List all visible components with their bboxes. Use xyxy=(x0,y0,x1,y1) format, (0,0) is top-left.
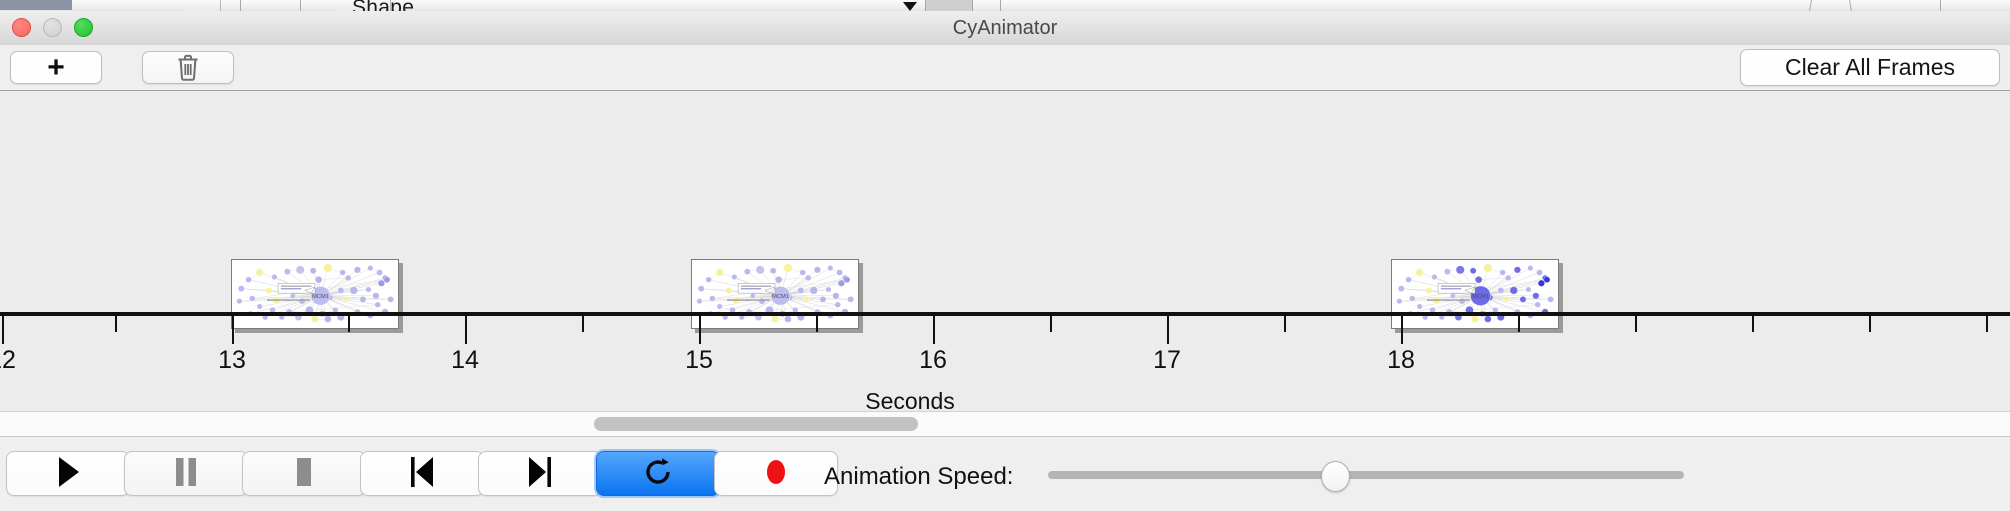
svg-text:MCM1: MCM1 xyxy=(312,294,329,300)
animation-speed-slider-thumb[interactable] xyxy=(1321,461,1350,492)
record-icon xyxy=(762,455,790,493)
tick-label-18: 18 xyxy=(1387,346,1415,375)
timeline-axis xyxy=(0,312,2010,316)
stop-icon xyxy=(289,455,319,493)
tick-label-15: 15 xyxy=(685,346,713,375)
tick-label-13: 13 xyxy=(218,346,246,375)
tick-minor-9 xyxy=(1869,316,1871,332)
tick-label-12: 12 xyxy=(0,346,16,375)
svg-text:MCM1: MCM1 xyxy=(1472,294,1489,300)
skip-back-icon xyxy=(406,455,438,493)
tick-minor-3 xyxy=(816,316,818,332)
tick-major-17 xyxy=(1167,316,1169,344)
add-frame-button[interactable]: + xyxy=(10,51,102,84)
clear-all-frames-label: Clear All Frames xyxy=(1785,54,1955,81)
timeline-frame-thumbnail[interactable]: MCM1 xyxy=(1391,259,1559,329)
skip-to-end-button[interactable] xyxy=(478,451,602,496)
tick-minor-7 xyxy=(1635,316,1637,332)
timeline-frame-thumbnail[interactable]: MCM1 xyxy=(231,259,399,329)
tick-minor-2 xyxy=(582,316,584,332)
tick-major-16 xyxy=(933,316,935,344)
tick-major-15 xyxy=(699,316,701,344)
tick-major-12 xyxy=(2,316,4,344)
animation-speed-label: Animation Speed: xyxy=(824,463,1013,491)
tick-minor-6 xyxy=(1518,316,1520,332)
transport-bar: Animation Speed: xyxy=(0,436,2010,511)
cyanimator-window: Shape CyAnimator + Clear All xyxy=(0,0,2010,510)
skip-to-start-button[interactable] xyxy=(360,451,484,496)
timeline-panel[interactable]: MCM1 MCM1 MCM1 12131415161718 Seconds xyxy=(0,91,2010,411)
tick-label-16: 16 xyxy=(919,346,947,375)
timeline-scrollbar-thumb[interactable] xyxy=(594,417,918,431)
tick-minor-8 xyxy=(1752,316,1754,332)
window-titlebar: CyAnimator xyxy=(0,11,2010,46)
tick-label-17: 17 xyxy=(1153,346,1181,375)
background-caret-icon xyxy=(903,2,917,11)
loop-button[interactable] xyxy=(596,451,720,496)
skip-forward-icon xyxy=(524,455,556,493)
pause-icon xyxy=(171,455,201,493)
tick-minor-5 xyxy=(1284,316,1286,332)
tick-major-14 xyxy=(465,316,467,344)
frame-toolbar: + Clear All Frames xyxy=(0,45,2010,91)
animation-speed-slider[interactable] xyxy=(1048,471,1684,479)
clear-all-frames-button[interactable]: Clear All Frames xyxy=(1740,49,2000,86)
window-title: CyAnimator xyxy=(0,11,2010,45)
stop-button xyxy=(242,451,366,496)
tick-major-18 xyxy=(1401,316,1403,344)
tick-label-14: 14 xyxy=(451,346,479,375)
trash-icon xyxy=(176,54,200,81)
loop-icon xyxy=(642,455,674,493)
pause-button xyxy=(124,451,248,496)
timeline-scrollbar[interactable] xyxy=(0,411,2010,437)
background-window-titlebar-fragment xyxy=(0,0,72,10)
tick-minor-10 xyxy=(1986,316,1988,332)
tick-minor-1 xyxy=(348,316,350,332)
play-icon xyxy=(53,455,83,493)
svg-text:MCM1: MCM1 xyxy=(772,294,789,300)
tick-minor-0 xyxy=(115,316,117,332)
timeline-frame-thumbnail[interactable]: MCM1 xyxy=(691,259,859,329)
tick-major-13 xyxy=(232,316,234,344)
plus-icon: + xyxy=(47,53,65,83)
delete-frame-button[interactable] xyxy=(142,51,234,84)
tick-minor-4 xyxy=(1050,316,1052,332)
play-button[interactable] xyxy=(6,451,130,496)
record-button[interactable] xyxy=(714,451,838,496)
